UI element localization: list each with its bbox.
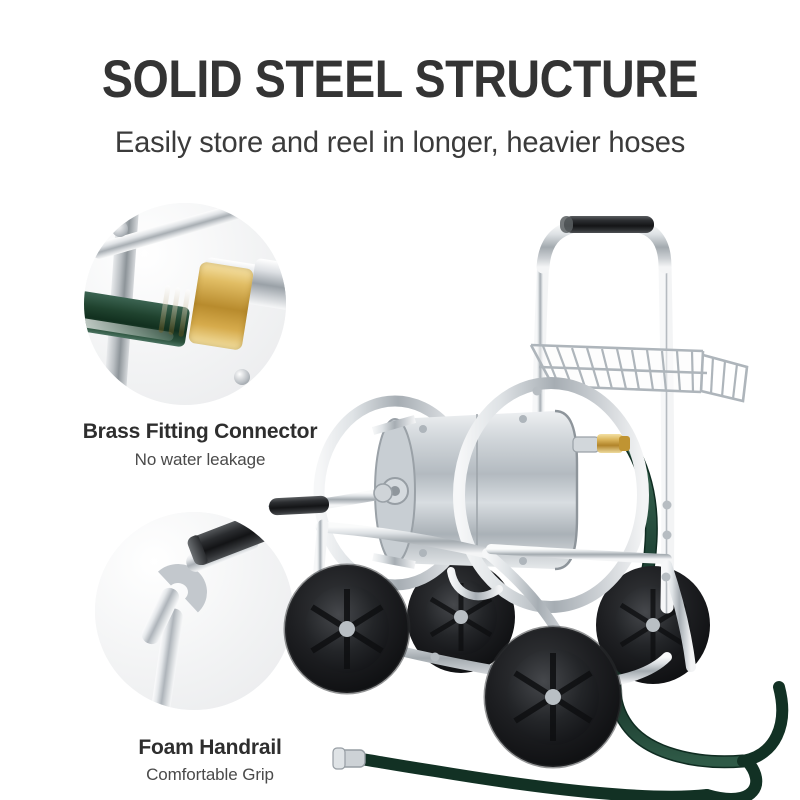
wire-basket (531, 345, 747, 401)
foam-handle-grip (564, 216, 654, 233)
hose-reel-cart (255, 205, 800, 800)
crank-handle (269, 484, 392, 516)
page-subtitle: Easily store and reel in longer, heavier… (12, 126, 788, 160)
wheel-front-left (285, 565, 409, 693)
page-title: SOLID STEEL STRUCTURE (48, 52, 752, 108)
brass-outlet-fitting (573, 434, 630, 453)
frame-screw (112, 221, 128, 237)
green-hose-tail (707, 687, 782, 799)
crank-foam-grip (269, 495, 330, 515)
marketing-image: SOLID STEEL STRUCTURE Easily store and r… (0, 0, 800, 800)
frame-screw (234, 369, 250, 385)
wheel-front-right (485, 627, 621, 767)
